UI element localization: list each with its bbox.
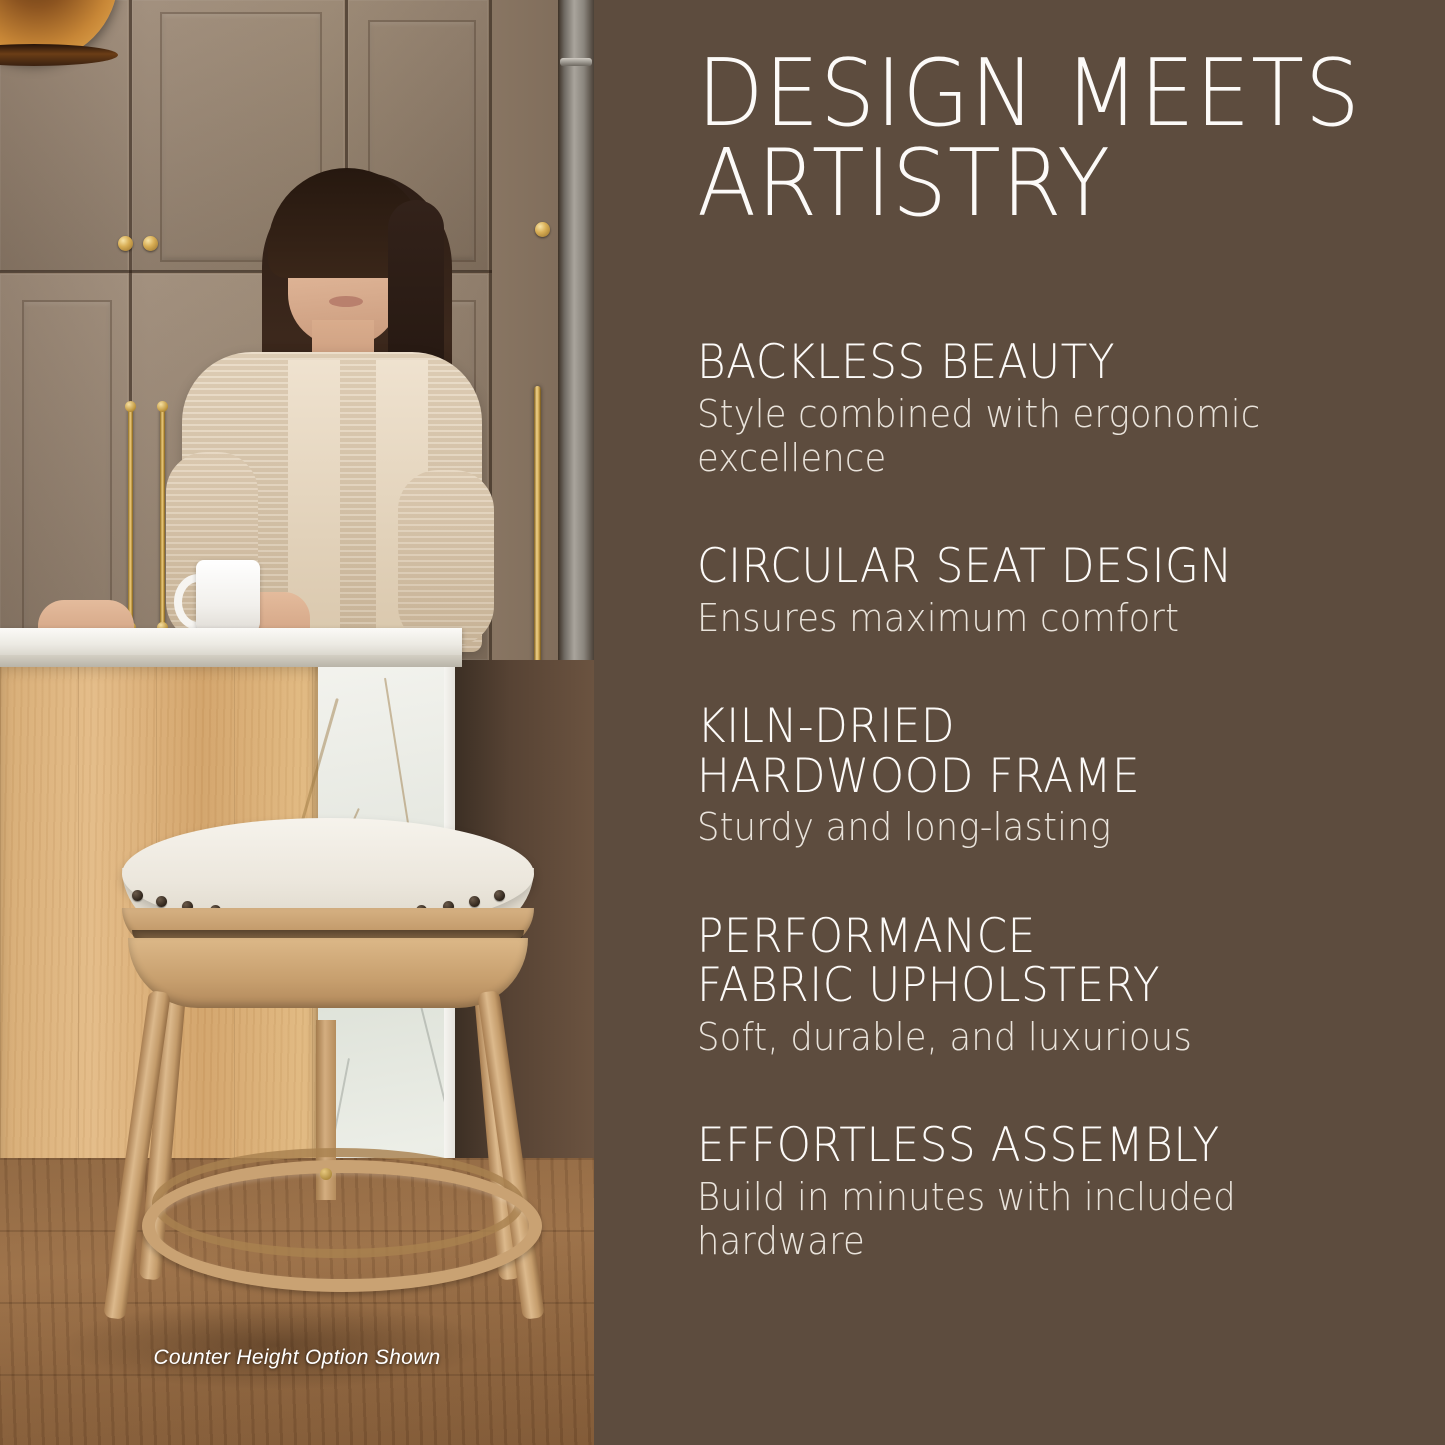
feature-item-effortless-assembly: EFFORTLESS ASSEMBLY Build in minutes wit… — [697, 1121, 1437, 1263]
model-lips — [329, 296, 363, 307]
lifestyle-photo: Counter Height Option Shown — [0, 0, 594, 1445]
feature-item-backless-beauty: BACKLESS BEAUTY Style combined with ergo… — [697, 338, 1437, 480]
cabinet-pull-right[interactable] — [160, 408, 165, 626]
feature-title: EFFORTLESS ASSEMBLY — [697, 1121, 1385, 1171]
photo-caption: Counter Height Option Shown — [0, 1346, 594, 1370]
feature-list: BACKLESS BEAUTY Style combined with ergo… — [697, 338, 1437, 1263]
nailhead — [132, 890, 143, 901]
feature-title: KILN-DRIED HARDWOOD FRAME — [697, 702, 1385, 802]
nailhead — [156, 896, 167, 907]
countertop-edge — [0, 655, 462, 667]
cabinet-pull-left[interactable] — [128, 408, 133, 626]
feature-title: CIRCULAR SEAT DESIGN — [697, 542, 1385, 592]
cabinet-panel-inset-lower — [22, 300, 112, 634]
cabinet-knob-right[interactable] — [535, 222, 550, 237]
stainless-appliance-strip — [558, 0, 594, 660]
coffee-mug — [196, 560, 260, 636]
footrest-screw — [320, 1168, 332, 1180]
tall-cabinet-pull[interactable] — [534, 386, 541, 696]
marble-countertop — [0, 628, 462, 658]
product-feature-graphic: Counter Height Option Shown DESIGN MEETS… — [0, 0, 1445, 1445]
feature-description: Soft, durable, and luxurious — [697, 1015, 1385, 1059]
nailhead — [469, 896, 480, 907]
feature-text-panel: DESIGN MEETS ARTISTRY BACKLESS BEAUTY St… — [594, 0, 1445, 1445]
feature-item-kiln-dried-hardwood-frame: KILN-DRIED HARDWOOD FRAME Sturdy and lon… — [697, 702, 1437, 850]
appliance-handle — [560, 58, 592, 66]
page-title: DESIGN MEETS ARTISTRY — [697, 48, 1376, 228]
feature-description: Build in minutes with included hardware — [697, 1175, 1385, 1263]
feature-description: Ensures maximum comfort — [697, 596, 1385, 640]
stool-apron — [128, 938, 528, 1008]
feature-description: Style combined with ergonomic excellence — [697, 392, 1385, 480]
arm-right — [398, 470, 494, 646]
feature-description: Sturdy and long-lasting — [697, 805, 1385, 849]
feature-item-performance-fabric-upholstery: PERFORMANCE FABRIC UPHOLSTERY Soft, dura… — [697, 912, 1437, 1060]
stool-footrest-ring — [142, 1160, 542, 1292]
nailhead — [494, 890, 505, 901]
feature-item-circular-seat-design: CIRCULAR SEAT DESIGN Ensures maximum com… — [697, 542, 1437, 640]
feature-title: PERFORMANCE FABRIC UPHOLSTERY — [697, 912, 1385, 1012]
cabinet-knob-left[interactable] — [118, 236, 133, 251]
feature-title: BACKLESS BEAUTY — [697, 338, 1385, 388]
cabinet-knob-mid[interactable] — [143, 236, 158, 251]
